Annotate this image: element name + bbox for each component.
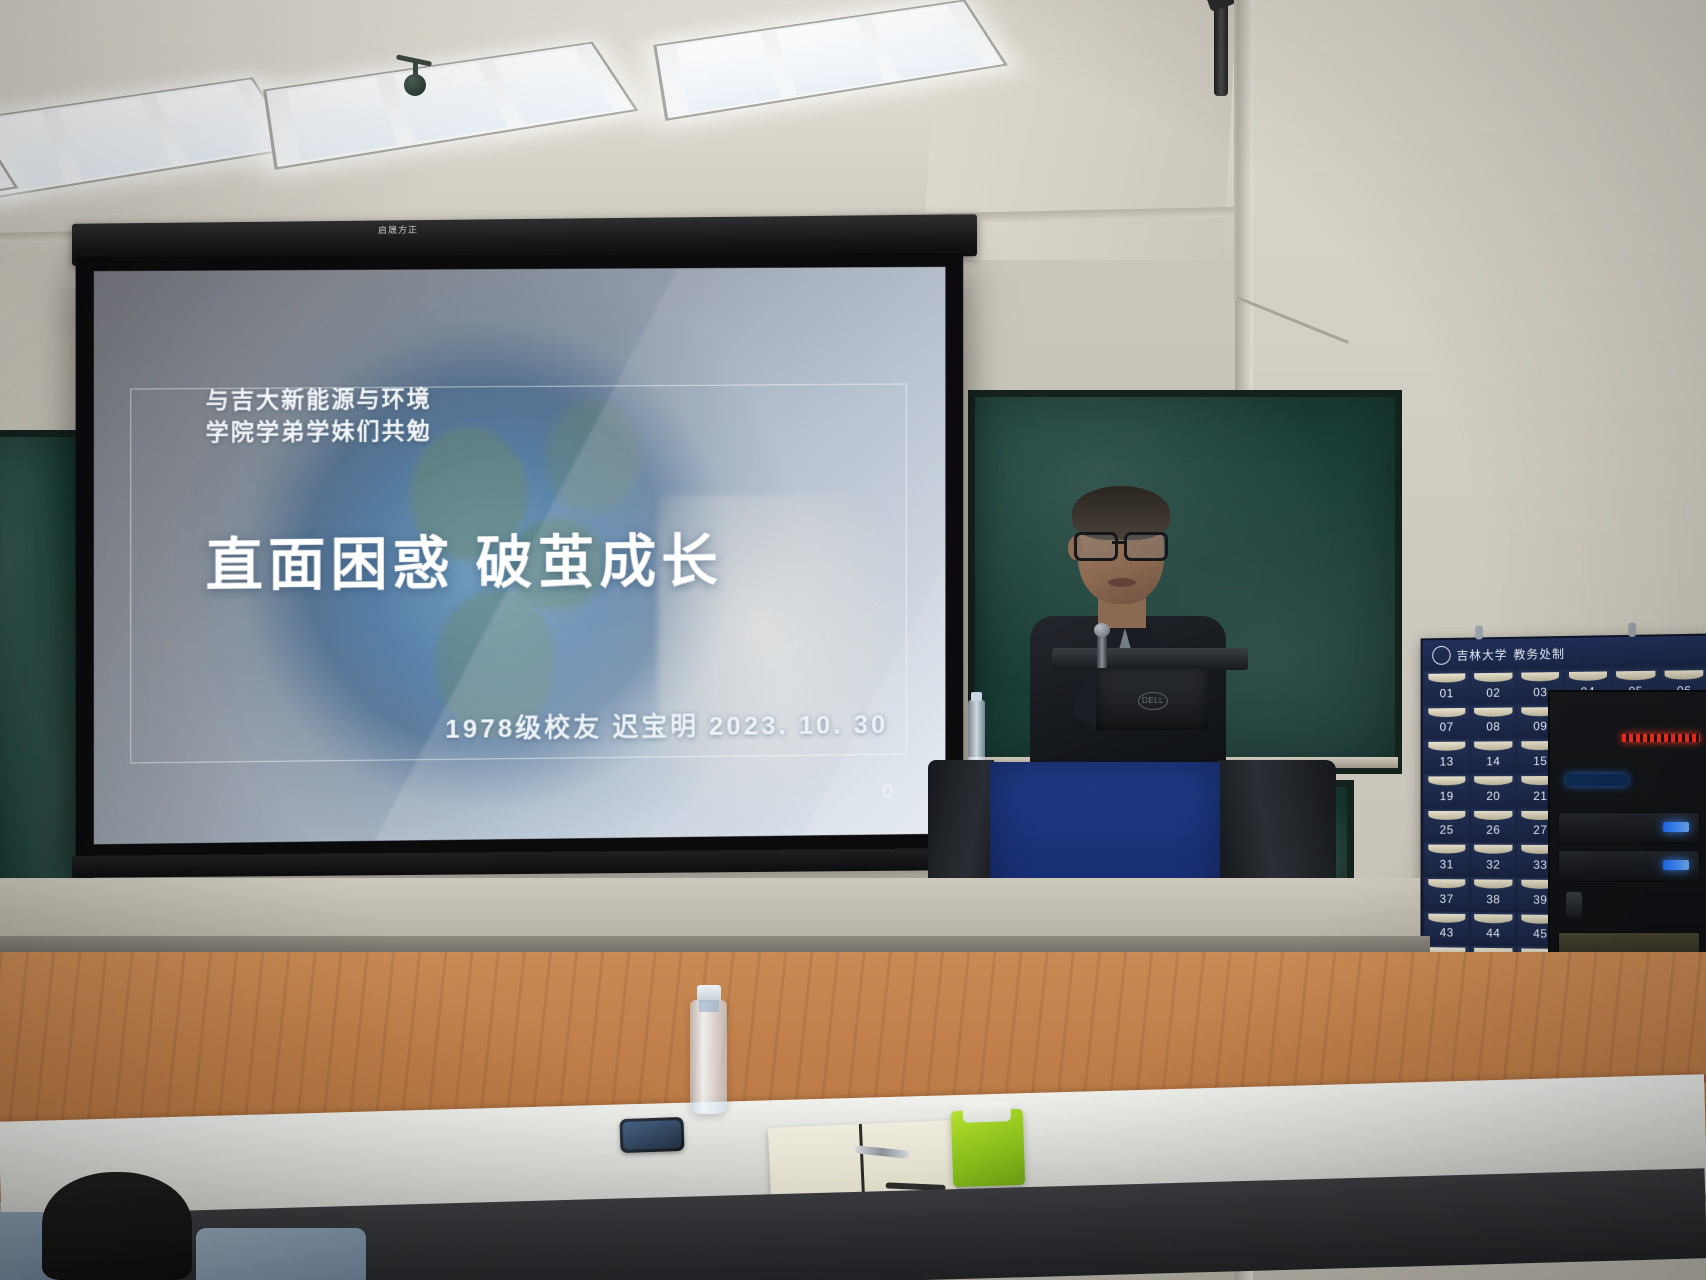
key-slot[interactable]: 14 xyxy=(1471,740,1516,773)
key-slot-number: 14 xyxy=(1486,754,1500,768)
ceiling-cable xyxy=(1234,0,1237,300)
key-slot[interactable]: 38 xyxy=(1471,877,1516,910)
key-slot-number: 13 xyxy=(1440,755,1454,769)
audience-seat xyxy=(196,1228,366,1280)
smartphone[interactable] xyxy=(619,1117,684,1153)
rack-status-led xyxy=(1622,734,1700,742)
audience-member-head xyxy=(42,1172,192,1280)
slide-subtitle-line-1: 与吉大新能源与环境 xyxy=(206,384,432,417)
key-slot[interactable]: 25 xyxy=(1424,809,1468,841)
key-slot-number: 45 xyxy=(1533,927,1547,941)
podium-microphone-icon xyxy=(1097,632,1107,672)
slide-credit-line: 1978级校友 迟宝明 2023. 10. 30 xyxy=(445,704,888,746)
key-slot[interactable]: 26 xyxy=(1471,809,1516,842)
projection-screen-frame: 与吉大新能源与环境 学院学弟学妹们共勉 直面困惑 破茧成长 1978级校友 迟宝… xyxy=(76,253,964,861)
university-logo-icon xyxy=(1432,645,1450,664)
key-slot-number: 31 xyxy=(1440,857,1454,871)
key-slot-number: 01 xyxy=(1440,686,1454,700)
key-slot-number: 25 xyxy=(1440,823,1454,837)
key-slot-number: 08 xyxy=(1486,720,1500,734)
key-slot[interactable]: 19 xyxy=(1424,774,1468,806)
slide-page-number: 0 xyxy=(882,780,893,803)
rack-amplifier xyxy=(1558,850,1700,882)
key-slot-number: 39 xyxy=(1533,892,1547,906)
ceiling-microphone-icon xyxy=(1214,0,1228,96)
key-slot[interactable]: 43 xyxy=(1424,911,1468,944)
key-slot-number: 32 xyxy=(1486,858,1500,872)
podium-water-bottle xyxy=(968,700,985,762)
key-slot[interactable]: 02 xyxy=(1471,671,1516,704)
key-slot-number: 26 xyxy=(1486,823,1500,837)
rack-amplifier xyxy=(1558,812,1700,844)
key-slot-number: 27 xyxy=(1533,823,1547,837)
eyeglasses-icon xyxy=(1074,532,1170,556)
key-slot[interactable]: 37 xyxy=(1424,877,1468,910)
key-slot[interactable]: 08 xyxy=(1471,705,1516,738)
key-slot[interactable]: 07 xyxy=(1424,706,1468,739)
key-board-subtitle: 教务处制 xyxy=(1513,644,1565,662)
rack-power-led xyxy=(1663,860,1689,870)
speaker-mouth xyxy=(1108,578,1136,587)
screen-brand-label: 启晟方正 xyxy=(378,223,418,236)
key-slot-number: 03 xyxy=(1533,685,1547,699)
key-slot-number: 09 xyxy=(1533,719,1547,733)
key-slot-number: 21 xyxy=(1533,789,1547,803)
board-hanger-pin xyxy=(1628,623,1636,637)
board-hanger-pin xyxy=(1475,625,1483,639)
key-board-title: 吉林大学 xyxy=(1457,645,1508,663)
rack-display xyxy=(1566,774,1628,786)
podium-desktop xyxy=(1052,648,1248,670)
key-slot-number: 43 xyxy=(1440,926,1454,940)
lecture-hall-photo: 启晟方正 与吉大新能源与环境 学院学弟学妹们共勉 直面困惑 破茧成长 1978级… xyxy=(0,0,1706,1280)
key-slot-number: 19 xyxy=(1440,789,1454,803)
speaker-person xyxy=(1016,478,1228,778)
sprinkler-head-icon xyxy=(404,60,426,94)
key-slot[interactable]: 01 xyxy=(1424,671,1468,704)
key-slot[interactable]: 44 xyxy=(1471,912,1516,945)
projection-screen: 与吉大新能源与环境 学院学弟学妹们共勉 直面困惑 破茧成长 1978级校友 迟宝… xyxy=(94,267,946,844)
key-slot-number: 02 xyxy=(1486,685,1500,699)
key-slot-number: 15 xyxy=(1533,754,1547,768)
key-slot[interactable]: 32 xyxy=(1471,843,1516,876)
rack-power-led xyxy=(1663,822,1689,832)
slide-subtitle: 与吉大新能源与环境 学院学弟学妹们共勉 xyxy=(206,384,432,449)
water-bottle[interactable] xyxy=(690,1000,727,1114)
laptop-brand-logo: DELL xyxy=(1138,692,1168,710)
key-slot-number: 07 xyxy=(1440,720,1454,734)
key-slot[interactable]: 31 xyxy=(1424,843,1468,876)
tissue-box[interactable] xyxy=(951,1109,1026,1187)
laptop[interactable]: DELL xyxy=(1096,668,1208,730)
key-slot-number: 38 xyxy=(1486,892,1500,906)
key-board-header: 吉林大学 教务处制 xyxy=(1423,635,1706,670)
key-slot-number: 37 xyxy=(1440,892,1454,906)
slide-subtitle-line-2: 学院学弟学妹们共勉 xyxy=(206,415,432,448)
key-slot[interactable]: 20 xyxy=(1471,774,1516,807)
slide-title: 直面困惑 破茧成长 xyxy=(206,515,723,602)
key-slot-number: 44 xyxy=(1486,926,1500,940)
rack-knob[interactable] xyxy=(1566,892,1582,918)
key-slot-number: 33 xyxy=(1533,858,1547,872)
key-slot[interactable]: 13 xyxy=(1424,740,1468,773)
key-slot-number: 20 xyxy=(1486,789,1500,803)
